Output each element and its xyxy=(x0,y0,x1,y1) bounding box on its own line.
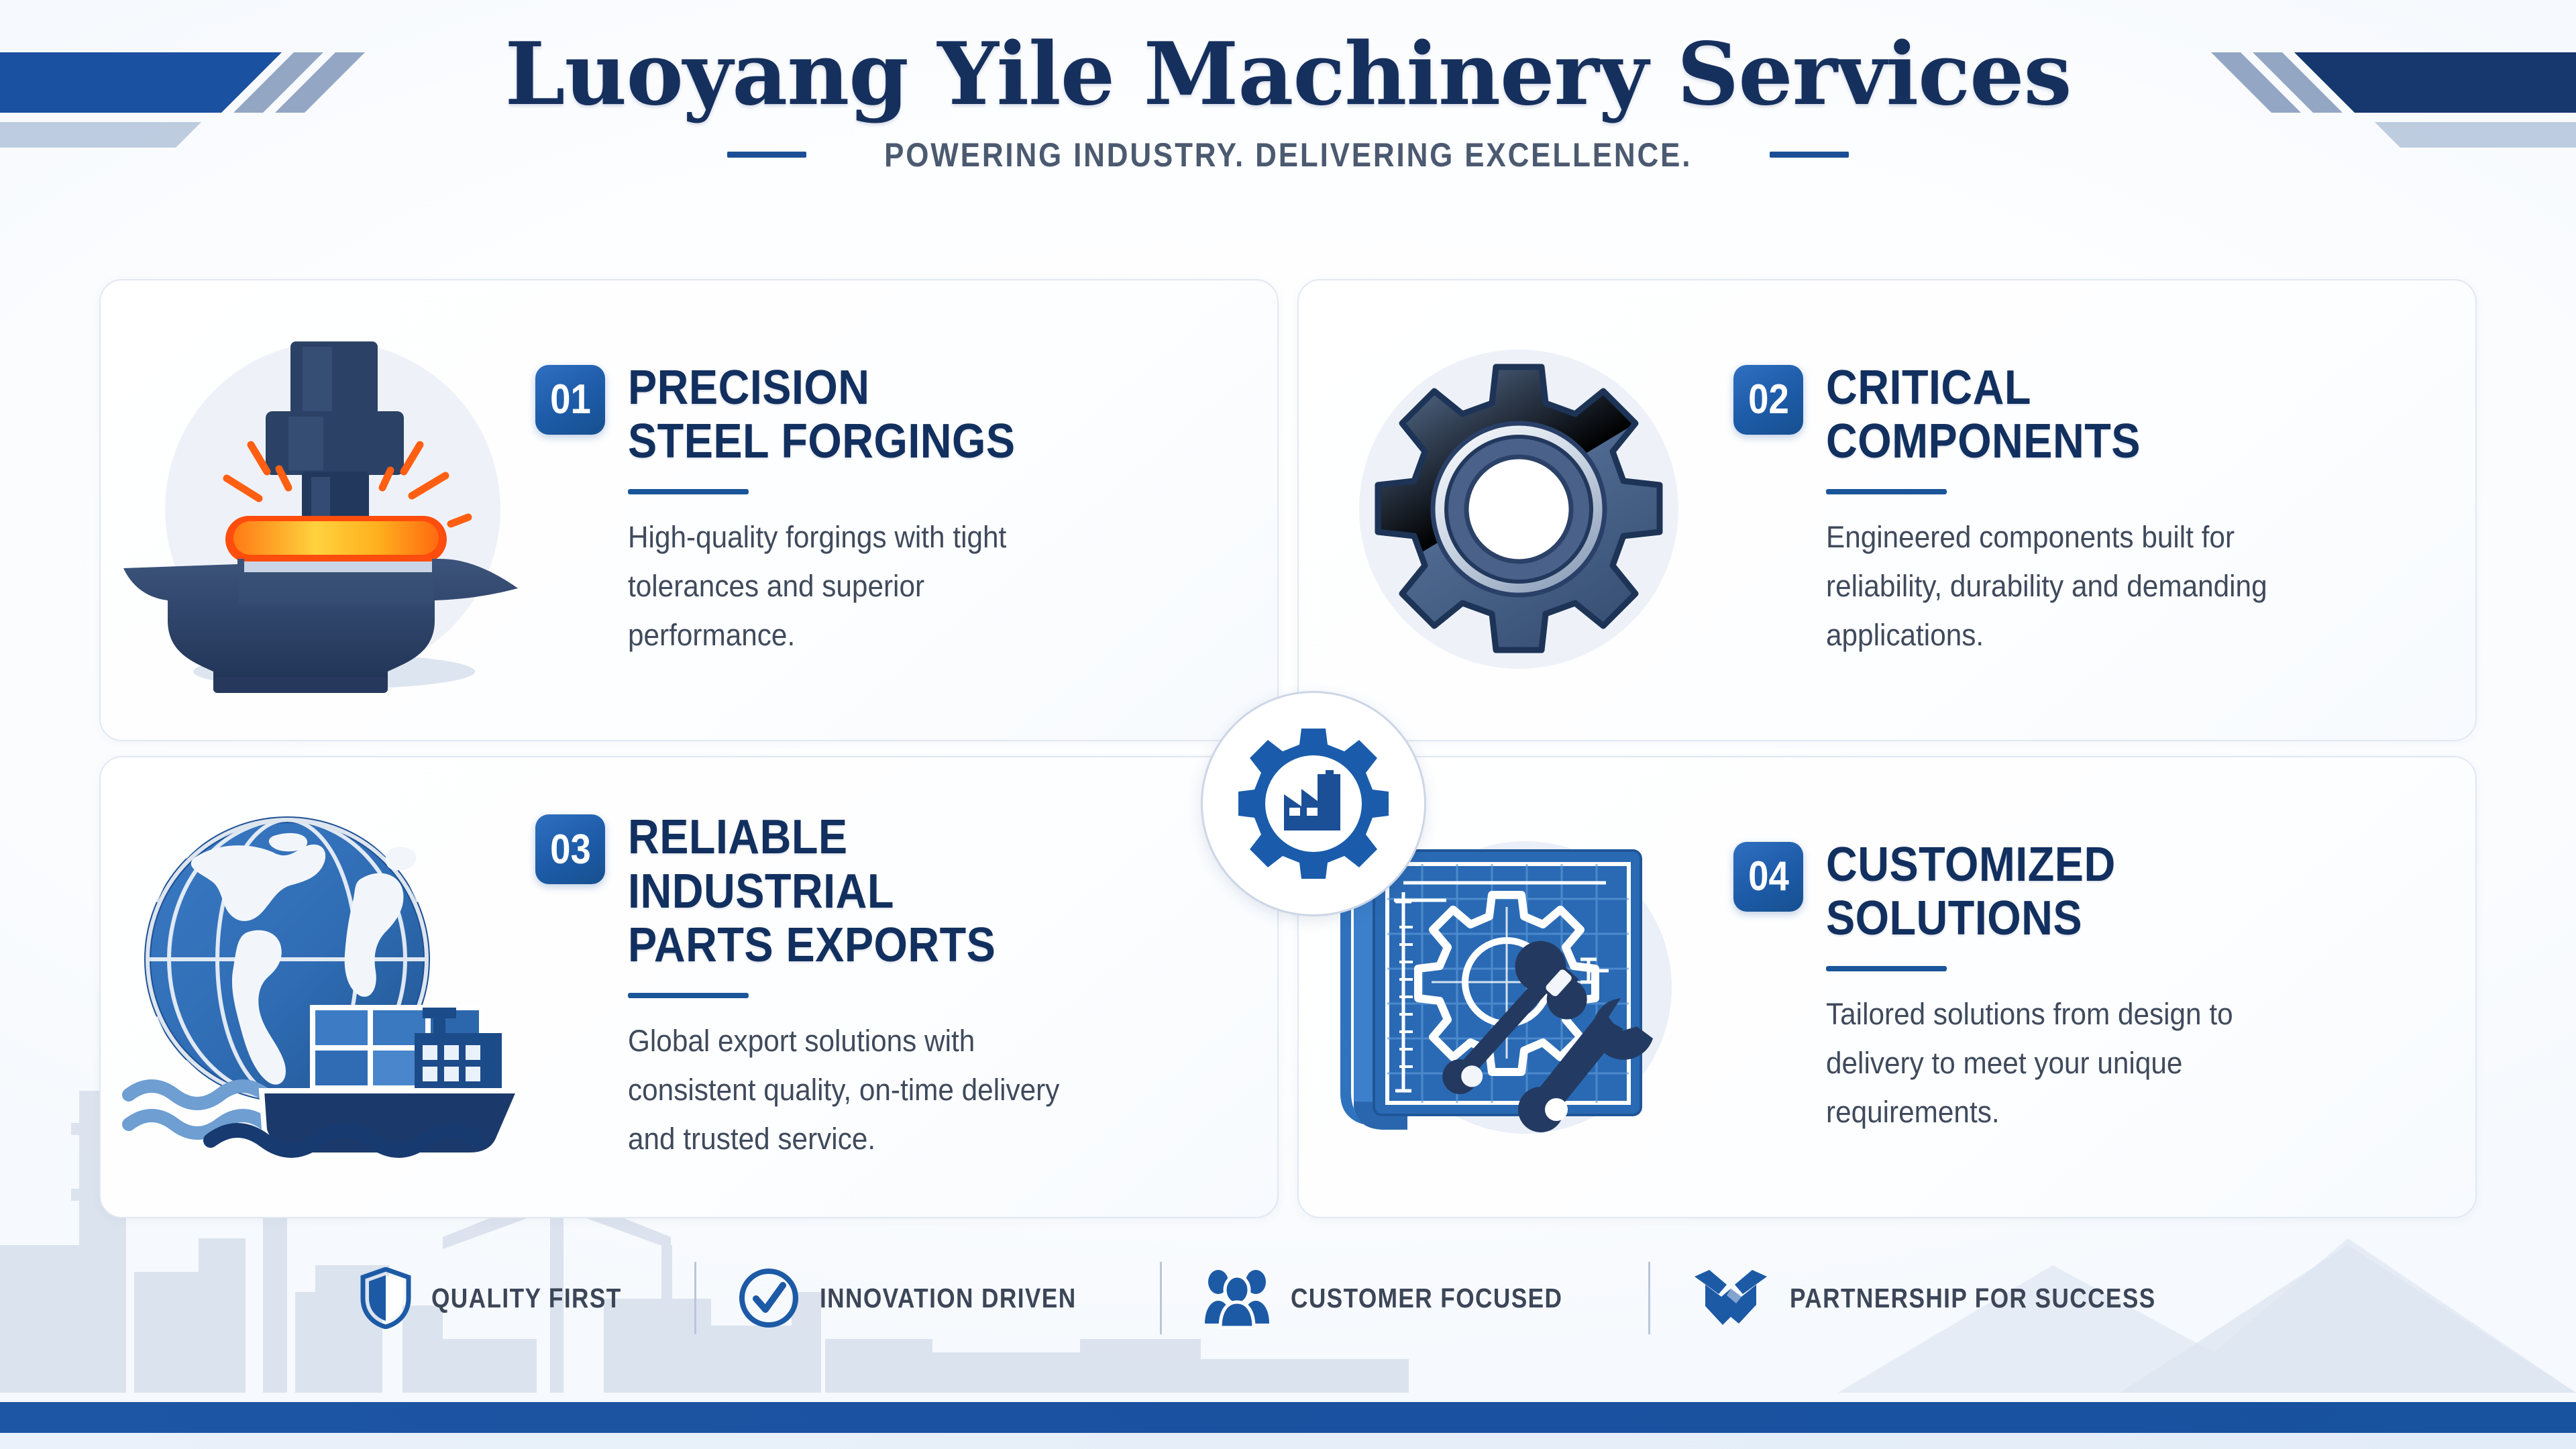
card-03-number: 03 xyxy=(550,826,591,873)
page-subtitle: POWERING INDUSTRY. DELIVERING EXCELLENCE… xyxy=(884,136,1692,174)
card-04-number: 04 xyxy=(1748,853,1789,900)
bottom-band-secondary xyxy=(0,1433,2576,1449)
anvil-forge-icon xyxy=(119,323,522,698)
service-card-03[interactable]: 03 RELIABLE INDUSTRIAL PARTS EXPORTS Glo… xyxy=(99,756,1279,1218)
service-card-01[interactable]: 01 PRECISION STEEL FORGINGS High-quality… xyxy=(99,279,1279,741)
card-03-body: 03 RELIABLE INDUSTRIAL PARTS EXPORTS Glo… xyxy=(529,810,1277,1164)
globe-cargo-ship-icon xyxy=(119,806,522,1169)
card-03-number-badge: 03 xyxy=(535,814,605,884)
card-04-title-line2: SOLUTIONS xyxy=(1826,892,2116,946)
card-04-description: Tailored solutions from design to delive… xyxy=(1826,990,2267,1137)
footer-values: QUALITY FIRST INNOVATION DRIVEN xyxy=(0,1248,2576,1348)
card-01-description: High-quality forgings with tight toleran… xyxy=(628,513,1069,660)
handshake-icon xyxy=(1692,1267,1770,1329)
card-03-art xyxy=(113,757,529,1217)
subtitle-rule-left xyxy=(727,152,806,158)
card-02-title-line2: COMPONENTS xyxy=(1826,415,2141,469)
card-01-art xyxy=(113,280,529,740)
subtitle-row: POWERING INDUSTRY. DELIVERING EXCELLENCE… xyxy=(0,136,2576,174)
footer-label-partnership-for-success: PARTNERSHIP FOR SUCCESS xyxy=(1790,1283,2156,1314)
card-02-description: Engineered components built for reliabil… xyxy=(1826,513,2267,660)
footer-item-customer-focused[interactable]: CUSTOMER FOCUSED xyxy=(1162,1267,1648,1329)
gear-icon xyxy=(1331,336,1707,685)
card-02-body: 02 CRITICAL COMPONENTS Engineered compon… xyxy=(1727,361,2475,660)
header: Luoyang Yile Machinery Services POWERING… xyxy=(0,30,2576,174)
people-group-icon xyxy=(1203,1267,1271,1329)
card-01-title-line1: PRECISION xyxy=(628,361,1016,415)
card-02-title-line1: CRITICAL xyxy=(1826,361,2141,415)
shield-icon xyxy=(360,1267,411,1329)
bottom-band xyxy=(0,1393,2576,1449)
card-04-number-badge: 04 xyxy=(1733,842,1803,912)
footer-label-quality-first: QUALITY FIRST xyxy=(431,1283,622,1314)
card-02-art xyxy=(1311,280,1727,740)
card-02-head: 02 CRITICAL COMPONENTS xyxy=(1733,361,2428,469)
card-04-title: CUSTOMIZED SOLUTIONS xyxy=(1826,838,2116,946)
card-02-number-badge: 02 xyxy=(1733,365,1803,435)
center-emblem xyxy=(1201,691,1426,916)
card-03-divider xyxy=(628,993,749,998)
card-04-divider xyxy=(1826,966,1947,971)
footer-item-partnership-for-success[interactable]: PARTNERSHIP FOR SUCCESS xyxy=(1650,1267,2257,1329)
gear-factory-icon xyxy=(1230,720,1397,888)
card-01-body: 01 PRECISION STEEL FORGINGS High-quality… xyxy=(529,361,1277,660)
card-02-number: 02 xyxy=(1748,376,1789,423)
service-card-04[interactable]: 04 CUSTOMIZED SOLUTIONS Tailored solutio… xyxy=(1297,756,2477,1218)
card-02-title: CRITICAL COMPONENTS xyxy=(1826,361,2141,469)
card-03-title: RELIABLE INDUSTRIAL PARTS EXPORTS xyxy=(628,810,996,973)
card-04-title-line1: CUSTOMIZED xyxy=(1826,838,2116,892)
card-02-divider xyxy=(1826,489,1947,494)
card-01-head: 01 PRECISION STEEL FORGINGS xyxy=(535,361,1230,469)
card-04-head: 04 CUSTOMIZED SOLUTIONS xyxy=(1733,838,2428,946)
check-circle-icon xyxy=(738,1267,800,1329)
footer-label-innovation-driven: INNOVATION DRIVEN xyxy=(820,1283,1077,1314)
card-03-description: Global export solutions with consistent … xyxy=(628,1017,1069,1164)
footer-item-quality-first[interactable]: QUALITY FIRST xyxy=(319,1267,694,1329)
card-03-head: 03 RELIABLE INDUSTRIAL PARTS EXPORTS xyxy=(535,810,1230,973)
card-01-number: 01 xyxy=(550,376,591,423)
infographic-canvas: Luoyang Yile Machinery Services POWERING… xyxy=(0,0,2576,1449)
bottom-band-primary xyxy=(0,1402,2576,1433)
service-card-02[interactable]: 02 CRITICAL COMPONENTS Engineered compon… xyxy=(1297,279,2477,741)
footer-item-innovation-driven[interactable]: INNOVATION DRIVEN xyxy=(696,1267,1160,1329)
card-03-title-line2: INDUSTRIAL xyxy=(628,865,996,919)
card-01-title-line2: STEEL FORGINGS xyxy=(628,415,1016,469)
card-01-number-badge: 01 xyxy=(535,365,605,435)
card-03-title-line1: RELIABLE xyxy=(628,810,996,865)
footer-label-customer-focused: CUSTOMER FOCUSED xyxy=(1291,1283,1562,1314)
subtitle-rule-right xyxy=(1770,152,1849,158)
card-03-title-line3: PARTS EXPORTS xyxy=(628,918,996,973)
page-title: Luoyang Yile Machinery Services xyxy=(0,30,2576,121)
card-01-divider xyxy=(628,489,749,494)
card-04-body: 04 CUSTOMIZED SOLUTIONS Tailored solutio… xyxy=(1727,838,2475,1137)
card-01-title: PRECISION STEEL FORGINGS xyxy=(628,361,1016,469)
